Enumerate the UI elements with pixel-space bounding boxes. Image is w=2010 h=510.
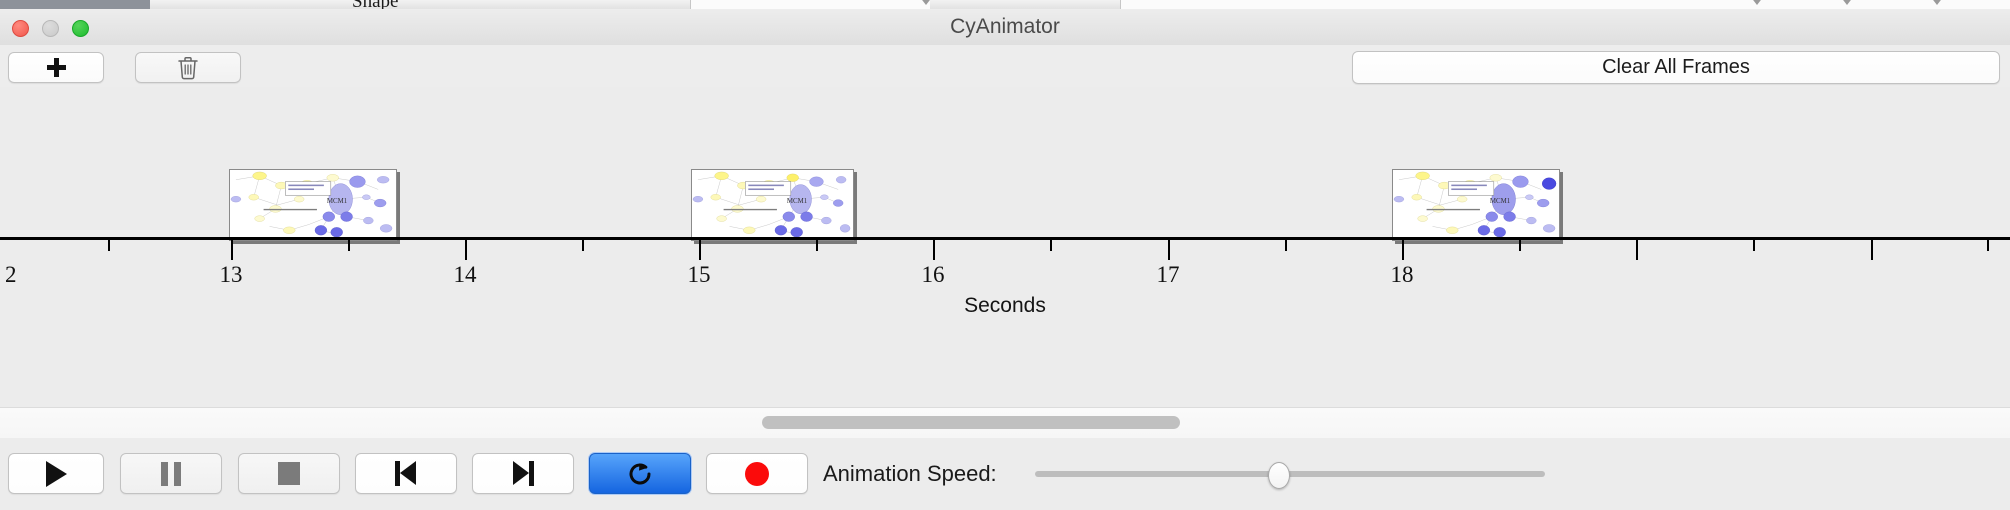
- axis-minor-tick: [1753, 240, 1755, 251]
- skip-to-start-button[interactable]: [355, 453, 457, 494]
- axis-minor-tick: [582, 240, 584, 251]
- background-window-chunk: [210, 0, 341, 9]
- play-icon: [46, 461, 67, 487]
- timeline-scrollbar[interactable]: [0, 407, 2010, 439]
- timeline-panel[interactable]: MCM1: [0, 87, 2010, 407]
- slider-thumb[interactable]: [1268, 462, 1290, 489]
- axis-tick-label: 17: [1157, 262, 1180, 288]
- background-window-chunk: [550, 0, 691, 9]
- background-window-marker: [1840, 0, 1854, 5]
- skip-back-icon: [393, 461, 419, 486]
- add-frame-button[interactable]: [8, 52, 104, 83]
- keyframe-thumbnail[interactable]: MCM1: [229, 169, 397, 241]
- axis-minor-tick: [348, 240, 350, 251]
- keyframe-thumbnail[interactable]: MCM1: [1392, 169, 1560, 241]
- pause-button[interactable]: [120, 453, 222, 494]
- playback-control-bar: Animation Speed:: [0, 438, 2010, 510]
- keyframe-thumbnail[interactable]: MCM1: [691, 169, 854, 241]
- background-window-chunk: [930, 0, 1021, 9]
- axis-tick-label: 14: [454, 262, 477, 288]
- pause-icon: [161, 462, 181, 486]
- axis-minor-tick: [1050, 240, 1052, 251]
- animation-speed-slider[interactable]: [1035, 438, 1545, 510]
- axis-major-tick: [1168, 240, 1170, 260]
- axis-tick-label: 15: [688, 262, 711, 288]
- axis-minor-tick: [1285, 240, 1287, 251]
- cyanimator-window: Shape CyAnimator Clear All Frames: [0, 0, 2010, 510]
- axis-major-tick: [1402, 240, 1404, 260]
- background-window-chunk: [400, 0, 551, 9]
- axis-major-tick: [1636, 240, 1638, 260]
- axis-minor-tick: [1987, 240, 1989, 251]
- timeline-axis: [0, 237, 2010, 240]
- loop-button[interactable]: [589, 453, 691, 494]
- title-bar[interactable]: CyAnimator: [0, 9, 2010, 46]
- delete-frame-button[interactable]: [135, 52, 241, 83]
- stop-button[interactable]: [238, 453, 340, 494]
- background-window-marker: [1930, 0, 1944, 5]
- background-window-marker: [1750, 0, 1764, 5]
- network-graph-preview: MCM1: [230, 170, 396, 240]
- axis-minor-tick: [816, 240, 818, 251]
- slider-track[interactable]: [1035, 471, 1545, 477]
- background-window-chunk: [150, 0, 211, 9]
- axis-tick-label: 16: [922, 262, 945, 288]
- network-graph-preview: MCM1: [692, 170, 853, 240]
- play-button[interactable]: [8, 453, 104, 494]
- axis-title: Seconds: [0, 294, 2010, 318]
- record-button[interactable]: [706, 453, 808, 494]
- background-window-dark-panel: [0, 0, 150, 9]
- scrollbar-thumb[interactable]: [762, 416, 1180, 429]
- axis-minor-tick: [108, 240, 110, 251]
- loop-icon: [626, 460, 654, 488]
- skip-to-end-button[interactable]: [472, 453, 574, 494]
- toolbar: Clear All Frames: [0, 45, 2010, 88]
- axis-major-tick: [699, 240, 701, 260]
- window-title: CyAnimator: [0, 9, 2010, 45]
- svg-text:MCM1: MCM1: [327, 198, 348, 205]
- axis-minor-tick: [1519, 240, 1521, 251]
- record-icon: [745, 462, 769, 486]
- skip-forward-icon: [510, 461, 536, 486]
- svg-text:MCM1: MCM1: [787, 198, 808, 205]
- axis-major-tick: [231, 240, 233, 260]
- animation-speed-label: Animation Speed:: [823, 438, 997, 510]
- svg-text:MCM1: MCM1: [1490, 198, 1511, 205]
- clear-all-frames-button[interactable]: Clear All Frames: [1352, 51, 2000, 84]
- axis-major-tick: [465, 240, 467, 260]
- stop-icon: [278, 462, 300, 485]
- network-graph-preview: MCM1: [1393, 170, 1559, 240]
- axis-tick-label: 13: [220, 262, 243, 288]
- trash-icon: [177, 56, 199, 80]
- axis-major-tick: [933, 240, 935, 260]
- plus-icon: [47, 58, 66, 77]
- background-window-chunk: [1020, 0, 1121, 9]
- background-window-marker: [919, 0, 933, 5]
- axis-tick-label: 18: [1391, 262, 1414, 288]
- axis-major-tick: [1871, 240, 1873, 260]
- axis-tick-label: 2: [5, 262, 17, 288]
